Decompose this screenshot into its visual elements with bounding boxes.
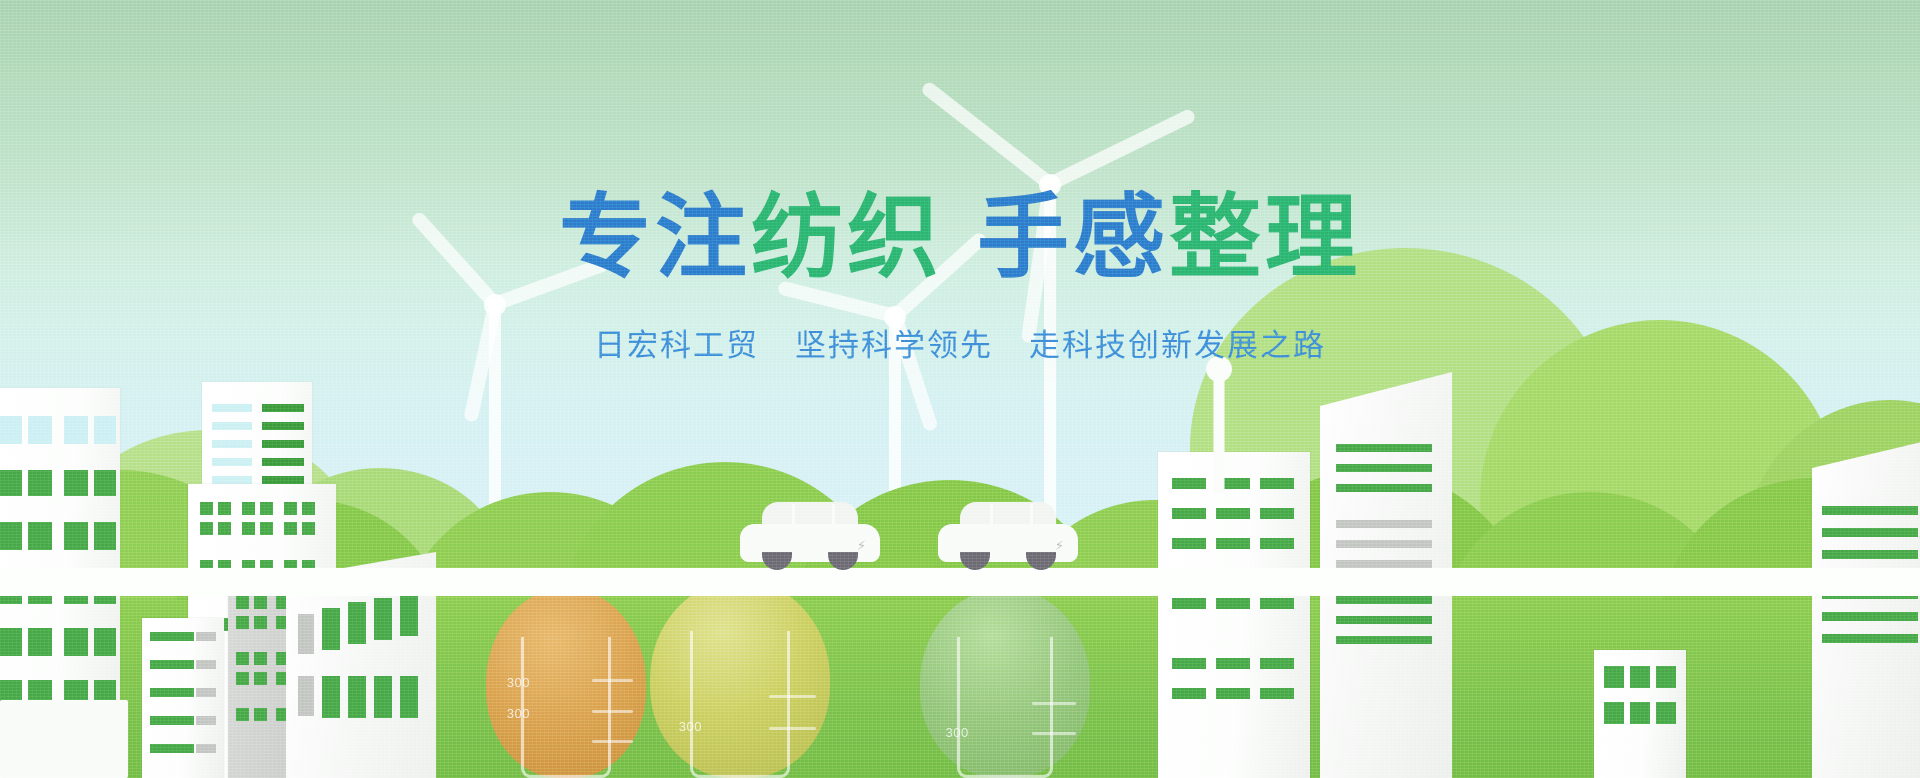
- window-strip: [1336, 540, 1432, 548]
- building-columned-right: [1812, 440, 1920, 778]
- window: [1630, 666, 1650, 688]
- window-strip: [1260, 688, 1294, 699]
- page-title: 专注纺织手感整理: [0, 192, 1920, 284]
- building-tower-right: [1158, 452, 1310, 778]
- subtitle-part-1: 日宏科工贸: [594, 328, 759, 364]
- window-strip: [1216, 598, 1250, 609]
- headline-segment-4: 整理: [1169, 184, 1361, 291]
- page-subtitle: 日宏科工贸坚持科学领先走科技创新发展之路: [0, 320, 1920, 365]
- window-strip: [1336, 636, 1432, 644]
- window-strip: [1336, 596, 1432, 604]
- car-wheel: [762, 552, 792, 570]
- window-strip: [1336, 616, 1432, 624]
- window-strip: [1216, 658, 1250, 669]
- window: [1604, 666, 1624, 688]
- window-strip: [1172, 658, 1206, 669]
- window: [1630, 702, 1650, 724]
- window-strip: [1216, 538, 1250, 549]
- window-strip: [1336, 520, 1432, 528]
- headline-segment-3: 手感: [977, 184, 1169, 291]
- electric-bolt-icon: ⚡: [857, 538, 866, 554]
- car-wheel: [828, 552, 858, 570]
- chimney-pipe: [1214, 372, 1225, 494]
- hero-text-block: 专注纺织手感整理 日宏科工贸坚持科学领先走科技创新发展之路: [0, 0, 1920, 365]
- window-strip: [1216, 688, 1250, 699]
- window-strip: [1822, 506, 1918, 515]
- road-band: [0, 568, 1920, 596]
- subtitle-part-3: 走科技创新发展之路: [1029, 328, 1326, 364]
- hero-banner: ⚡ ⚡ 300 300 300 300 专注纺织手感整理: [0, 0, 1920, 778]
- window-strip: [1260, 508, 1294, 519]
- window-strip: [1336, 484, 1432, 492]
- foreground-sign: [0, 700, 128, 778]
- window-strip: [1822, 528, 1918, 537]
- window: [1656, 666, 1676, 688]
- window-strip: [1822, 550, 1918, 559]
- car-wheel: [960, 552, 990, 570]
- headline-segment-1: 专注: [559, 184, 751, 291]
- car-wheel: [1026, 552, 1056, 570]
- window-strip: [1260, 478, 1294, 489]
- window-strip: [1336, 560, 1432, 568]
- window: [1656, 702, 1676, 724]
- electric-bolt-icon: ⚡: [1055, 538, 1064, 554]
- window-strip: [1260, 658, 1294, 669]
- window-strip: [1822, 634, 1918, 643]
- window-strip: [1822, 612, 1918, 621]
- window-strip: [1336, 444, 1432, 452]
- car-left: ⚡: [740, 498, 880, 570]
- headline-segment-2: 纺织: [751, 184, 943, 291]
- window-strip: [1172, 508, 1206, 519]
- window-strip: [1216, 508, 1250, 519]
- building-lowrise-right: [1594, 650, 1686, 778]
- window-strip: [1260, 538, 1294, 549]
- subtitle-part-2: 坚持科学领先: [795, 328, 993, 364]
- window: [1604, 702, 1624, 724]
- window-strip: [1172, 598, 1206, 609]
- window-strip: [1172, 478, 1206, 489]
- factory-chimney: [1206, 372, 1232, 494]
- car-right: ⚡: [938, 498, 1078, 570]
- window-strip: [1172, 538, 1206, 549]
- window-strip: [1336, 464, 1432, 472]
- window-strip: [1260, 598, 1294, 609]
- window-strip: [1172, 688, 1206, 699]
